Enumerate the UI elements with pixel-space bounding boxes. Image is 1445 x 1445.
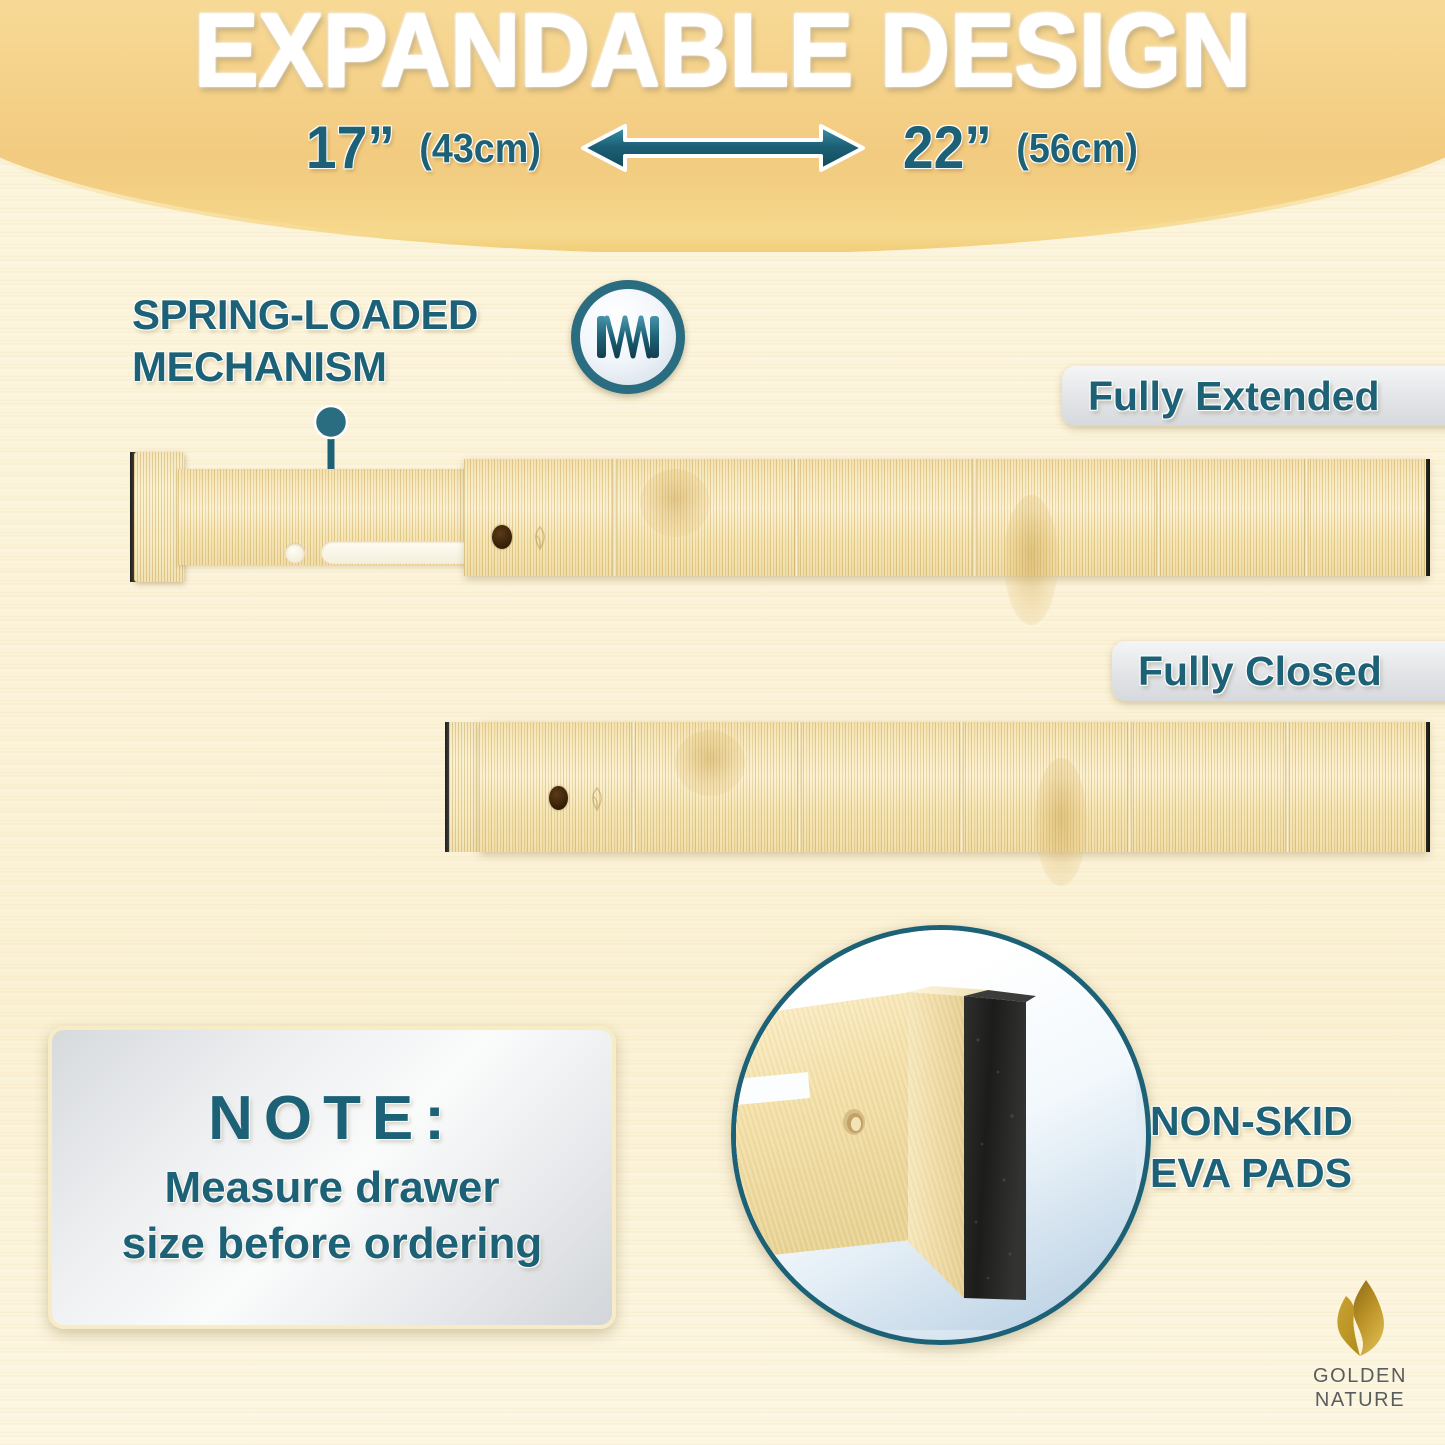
size-min-inches: 17” xyxy=(305,118,394,178)
screw-hole xyxy=(549,786,568,810)
note-callout-box: NOTE: Measure drawer size before orderin… xyxy=(48,1026,616,1329)
bamboo-seam xyxy=(972,459,977,576)
bar-right-edge xyxy=(1426,722,1430,852)
note-line-1: Measure drawer xyxy=(164,1160,499,1216)
rail-round-hole xyxy=(285,543,305,563)
double-arrow-horizontal-icon xyxy=(579,120,867,176)
fully-extended-label: Fully Extended xyxy=(1062,376,1406,417)
eva-label-line-2: EVA PADS xyxy=(1150,1147,1440,1199)
note-line-2: size before ordering xyxy=(122,1216,543,1272)
screw-hole xyxy=(492,525,512,549)
bamboo-knot xyxy=(640,469,710,537)
bamboo-seam xyxy=(1156,459,1161,576)
bamboo-seam xyxy=(612,459,617,576)
bamboo-knot xyxy=(1004,495,1058,625)
bar-right-edge xyxy=(1426,459,1430,576)
brand-stamp-icon xyxy=(584,786,610,812)
spring-label-line-2: MECHANISM xyxy=(132,341,552,393)
note-title: NOTE: xyxy=(208,1083,456,1154)
eva-pad-closeup-photo xyxy=(731,925,1151,1345)
bamboo-seam xyxy=(794,459,799,576)
status-badge-fully-closed: Fully Closed xyxy=(1112,641,1445,701)
bamboo-knot xyxy=(1035,758,1087,886)
bamboo-seam xyxy=(631,722,636,852)
size-max-inches: 22” xyxy=(902,118,991,178)
status-badge-fully-extended: Fully Extended xyxy=(1062,366,1445,426)
page-title: EXPANDABLE DESIGN xyxy=(51,0,1395,106)
eva-label-line-1: NON-SKID xyxy=(1150,1095,1440,1147)
fully-closed-label: Fully Closed xyxy=(1112,651,1408,692)
golden-flame-leaf-logo xyxy=(1322,1278,1398,1364)
spring-badge-face xyxy=(580,289,676,385)
header-banner: EXPANDABLE DESIGN EXPANDABLE DESIGN 17” … xyxy=(0,0,1445,252)
bamboo-seam xyxy=(959,722,964,852)
size-min-cm: (43cm) xyxy=(420,128,542,169)
end-cap-extended xyxy=(134,452,184,582)
bamboo-seam xyxy=(1127,722,1132,852)
bamboo-seam xyxy=(1285,722,1290,852)
infographic-canvas: EXPANDABLE DESIGN EXPANDABLE DESIGN 17” … xyxy=(0,0,1445,1445)
spring-coil-icon xyxy=(571,280,685,394)
bamboo-seam xyxy=(1304,459,1309,576)
divider-extended-illustration xyxy=(134,452,1427,582)
divider-main-body-closed xyxy=(479,722,1427,852)
spring-mechanism-label: SPRING-LOADED MECHANISM xyxy=(132,289,552,393)
spring-label-line-1: SPRING-LOADED xyxy=(132,289,552,341)
bamboo-seam xyxy=(797,722,802,852)
brand-name-line-2: NATURE xyxy=(1315,1388,1405,1412)
divider-main-body-extended xyxy=(464,459,1427,576)
brand-name-line-1: GOLDEN xyxy=(1313,1364,1407,1388)
end-cap-closed xyxy=(449,722,483,852)
size-max-cm: (56cm) xyxy=(1017,128,1139,169)
size-range-row: 17” (43cm) 22” (56cm) xyxy=(0,112,1445,184)
brand-stamp-icon xyxy=(527,525,553,551)
eva-pads-label: NON-SKID EVA PADS xyxy=(1150,1095,1440,1199)
brand-logo: GOLDEN NATURE xyxy=(1290,1278,1430,1428)
bamboo-knot xyxy=(675,730,745,796)
divider-closed-illustration xyxy=(449,722,1427,852)
